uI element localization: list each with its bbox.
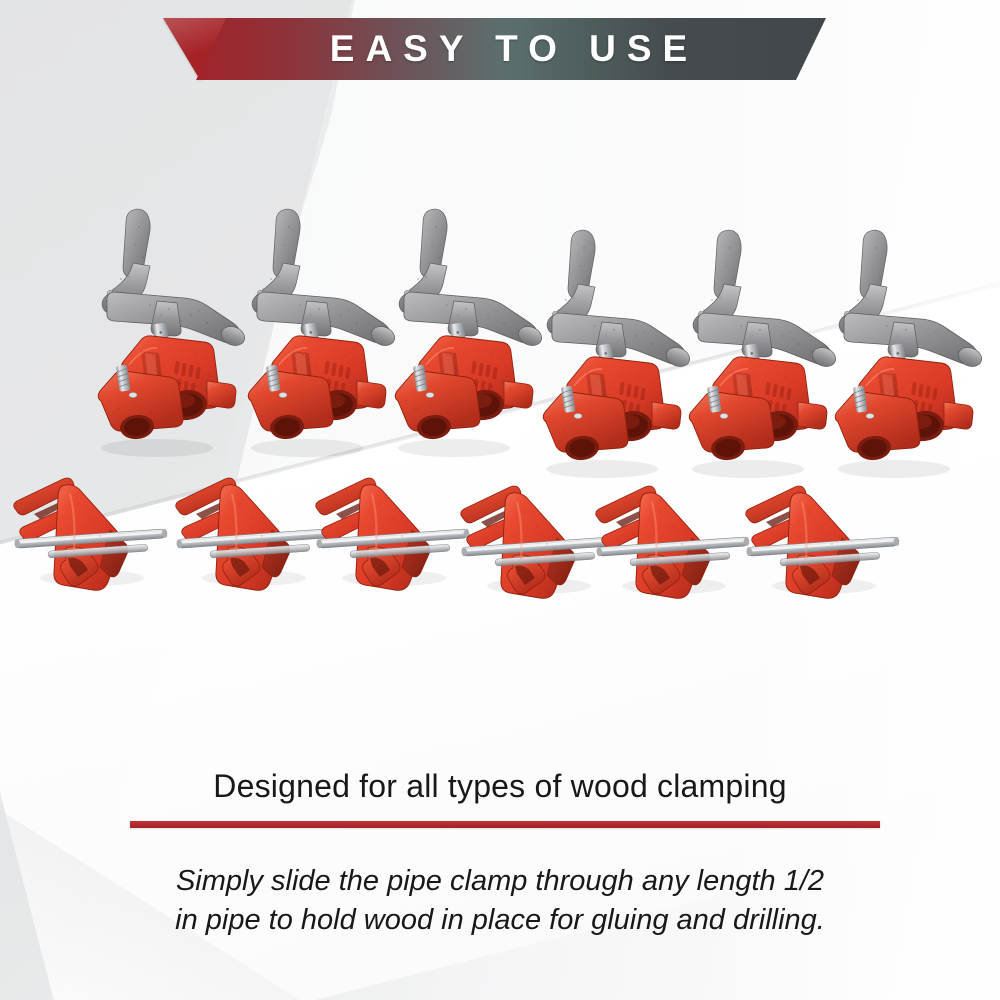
tail-stop-3 bbox=[316, 478, 470, 590]
description-line-2: in pipe to hold wood in place for gluing… bbox=[55, 901, 945, 940]
clamp-2 bbox=[248, 209, 397, 457]
product-marketing-image: EASY TO USE bbox=[0, 0, 1000, 1000]
description-line-1: Simply slide the pipe clamp through any … bbox=[55, 862, 945, 901]
headline-text: Designed for all types of wood clamping bbox=[0, 768, 1000, 805]
clamp-6 bbox=[835, 230, 984, 478]
tail-stop-2 bbox=[176, 478, 330, 590]
clamp-5 bbox=[689, 230, 838, 478]
tail-stop-1 bbox=[14, 478, 168, 590]
tail-stop-6 bbox=[746, 486, 900, 598]
headline-underline bbox=[130, 821, 880, 828]
pipe-clamp-illustration bbox=[0, 0, 1000, 1000]
clamp-3 bbox=[395, 209, 544, 457]
product-gallery bbox=[0, 0, 1000, 1000]
clamp-1 bbox=[98, 209, 247, 457]
description-text: Simply slide the pipe clamp through any … bbox=[55, 862, 945, 939]
clamp-4 bbox=[543, 230, 692, 478]
tail-stop-4 bbox=[461, 486, 615, 598]
tail-stop-5 bbox=[596, 486, 750, 598]
